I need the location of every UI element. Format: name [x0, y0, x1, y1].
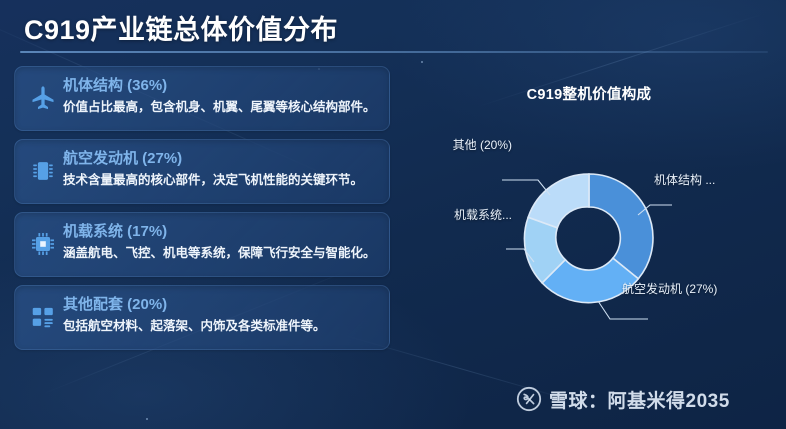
page-title: C919产业链总体价值分布: [24, 14, 762, 46]
background-dot: [146, 418, 148, 420]
watermark: 雪球：阿基米得2035: [516, 386, 730, 417]
slice-label-aero-engine: 航空发动机 (27%): [622, 282, 717, 296]
slice-label-fuselage-structure: 机体结构 ...: [654, 173, 715, 187]
card-text: 机体结构 (36%) 价值占比最高，包含机身、机翼、尾翼等核心结构部件。: [61, 76, 377, 116]
slice-label-other: 其他 (20%): [416, 138, 512, 152]
header: C919产业链总体价值分布: [0, 0, 786, 46]
donut-chart-panel: C919整机价值构成: [400, 66, 778, 366]
infographic-slide: C919产业链总体价值分布 机体结构 (36%) 价值占比最高，包含机身、机翼、…: [0, 0, 786, 429]
card-description: 价值占比最高，包含机身、机翼、尾翼等核心结构部件。: [63, 98, 377, 116]
card-title: 机载系统 (17%): [63, 222, 377, 242]
card-other-supporting[interactable]: 其他配套 (20%) 包括航空材料、起落架、内饰及各类标准件等。: [14, 285, 390, 350]
dashboard-grid-icon: [25, 295, 61, 339]
slice-fuselage-structure: [589, 174, 653, 279]
card-fuselage-structure[interactable]: 机体结构 (36%) 价值占比最高，包含机身、机翼、尾翼等核心结构部件。: [14, 66, 390, 131]
card-description: 涵盖航电、飞控、机电等系统，保障飞行安全与智能化。: [63, 244, 377, 262]
background-dot: [421, 61, 423, 63]
watermark-text: 雪球：阿基米得2035: [549, 391, 730, 413]
card-text: 航空发动机 (27%) 技术含量最高的核心部件，决定飞机性能的关键环节。: [61, 149, 377, 189]
card-title: 机体结构 (36%): [63, 76, 377, 96]
leader-line-engine: [598, 301, 648, 319]
airplane-icon: [25, 76, 61, 120]
microchip-icon: [25, 222, 61, 266]
donut-chart: 机体结构 ... 航空发动机 (27%) 机载系统... 其他 (20%): [400, 110, 778, 362]
value-chain-card-list: 机体结构 (36%) 价值占比最高，包含机身、机翼、尾翼等核心结构部件。: [14, 66, 390, 358]
card-text: 机载系统 (17%) 涵盖航电、飞控、机电等系统，保障飞行安全与智能化。: [61, 222, 377, 262]
xueqiu-logo-icon: [516, 386, 542, 417]
engine-chip-icon: [25, 149, 61, 193]
card-description: 技术含量最高的核心部件，决定飞机性能的关键环节。: [63, 171, 377, 189]
card-title: 航空发动机 (27%): [63, 149, 377, 169]
card-onboard-systems[interactable]: 机载系统 (17%) 涵盖航电、飞控、机电等系统，保障飞行安全与智能化。: [14, 212, 390, 277]
slice-label-onboard-systems: 机载系统...: [408, 208, 512, 222]
title-divider: [20, 51, 768, 53]
slice-other: [528, 174, 589, 228]
card-title: 其他配套 (20%): [63, 295, 377, 315]
card-text: 其他配套 (20%) 包括航空材料、起落架、内饰及各类标准件等。: [61, 295, 377, 335]
chart-title: C919整机价值构成: [400, 83, 778, 104]
card-description: 包括航空材料、起落架、内饰及各类标准件等。: [63, 317, 377, 335]
card-aero-engine[interactable]: 航空发动机 (27%) 技术含量最高的核心部件，决定飞机性能的关键环节。: [14, 139, 390, 204]
